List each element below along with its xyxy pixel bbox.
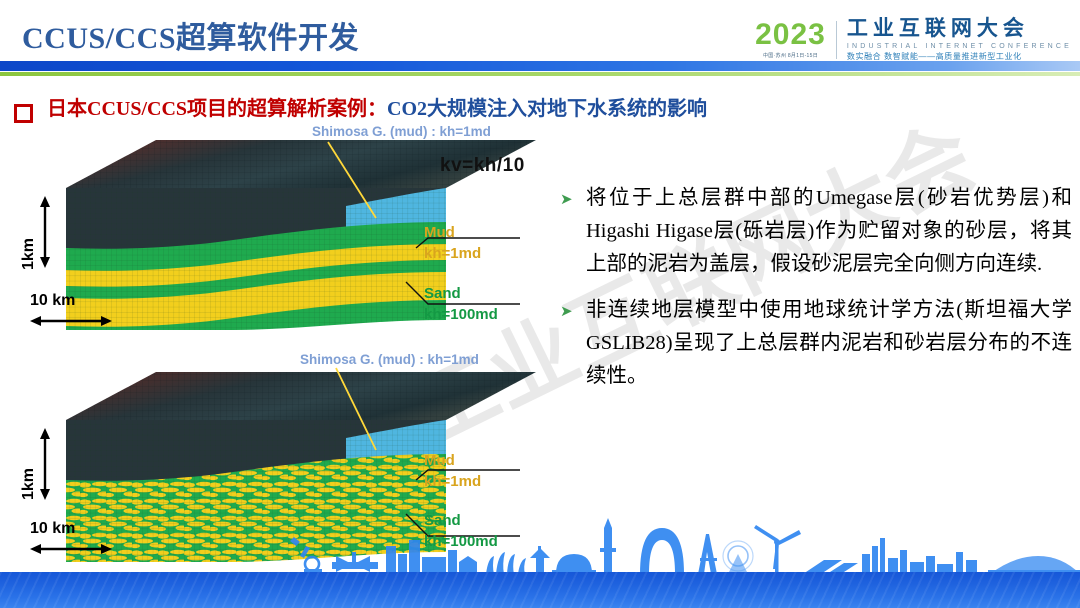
upper-mud-label: Mud [424,224,455,241]
lower-mud-value: kh=1md [424,473,481,490]
list-item: ➤ 非连续地层模型中使用地球统计学方法(斯坦福大学GSLIB28)呈现了上总层群… [560,294,1072,394]
heading-red-part: 日本CCUS/CCS项目的超算解析案例： [47,98,387,120]
skyline-svg [0,510,1080,578]
upper-horizontal-scale-label: 10 km [30,292,75,310]
footer-skyline [0,510,1080,578]
lower-vertical-scale-arrow [32,428,58,500]
upper-sand-label: Sand [424,285,461,302]
upper-kv-label: kv=kh/10 [440,155,525,177]
footer-band [0,572,1080,608]
upper-horizontal-scale-arrow [30,312,112,330]
arrow-bullet-icon: ➤ [560,305,580,320]
header-rule-blue [0,61,1080,71]
upper-mud-value: kh=1md [424,245,481,262]
bullet-text: 将位于上总层群中部的Umegase层(砂岩优势层)和Higashi Higase… [586,182,1072,282]
logo-tagline: 数实融合 数智赋能——高质量推进新型工业化 [847,53,1072,61]
section-heading: 日本CCUS/CCS项目的超算解析案例：CO2大规模注入对地下水系统的影响 [14,97,707,123]
square-bullet-icon [14,104,33,123]
lower-mud-label: Mud [424,452,455,469]
page-title: CCUS/CCS超算软件开发 [22,13,359,57]
upper-sand-value: kh=100md [424,306,498,323]
bullet-list: ➤ 将位于上总层群中部的Umegase层(砂岩优势层)和Higashi Higa… [560,182,1072,405]
logo-name-block: 工业互联网大会 INDUSTRIAL INTERNET CONFERENCE 数… [847,18,1072,61]
logo-chinese-name: 工业互联网大会 [847,18,1072,39]
bullet-text: 非连续地层模型中使用地球统计学方法(斯坦福大学GSLIB28)呈现了上总层群内泥… [586,294,1072,394]
slide-root: CCUS/CCS超算软件开发 2023 中国·苏州 8月1日-15日 工业互联网… [0,0,1080,608]
conference-logo: 2023 中国·苏州 8月1日-15日 工业互联网大会 INDUSTRIAL I… [755,18,1072,61]
logo-year-text: 2023 [755,20,826,50]
list-item: ➤ 将位于上总层群中部的Umegase层(砂岩优势层)和Higashi Higa… [560,182,1072,282]
arrow-bullet-icon: ➤ [560,193,580,208]
heading-blue-part: CO2大规模注入对地下水系统的影响 [387,98,707,120]
header-rule-green [0,72,1080,76]
logo-year-block: 2023 中国·苏州 8月1日-15日 [755,20,826,59]
logo-english-name: INDUSTRIAL INTERNET CONFERENCE [847,43,1072,50]
logo-divider [836,21,837,59]
upper-shimosa-label: Shimosa G. (mud) : kh=1md [312,124,491,139]
upper-vertical-scale-arrow [32,196,58,268]
logo-year-subtitle: 中国·苏州 8月1日-15日 [763,54,818,59]
lower-shimosa-label: Shimosa G. (mud) : kh=1md [300,352,479,367]
section-heading-text: 日本CCUS/CCS项目的超算解析案例：CO2大规模注入对地下水系统的影响 [47,97,707,121]
